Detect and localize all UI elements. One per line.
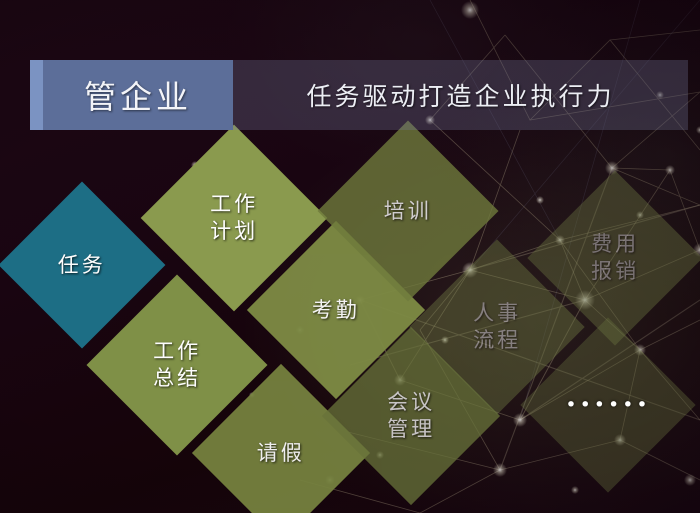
diamond-label-leave: 请假 — [257, 440, 305, 467]
diamond-label-meeting: 会议 管理 — [387, 389, 435, 443]
ellipsis-more-indicator: •••••• — [565, 394, 650, 416]
diamond-label-work-plan: 工作 计划 — [210, 191, 258, 245]
diamond-label-training: 培训 — [384, 198, 432, 225]
diamond-label-expense: 费用 报销 — [591, 231, 639, 285]
diamond-label-hr-process: 人事 流程 — [473, 300, 521, 354]
diamond-label-work-summary: 工作 总结 — [153, 338, 201, 392]
page-title: 管企业 — [43, 60, 233, 130]
title-bar-accent-stripe — [30, 60, 43, 130]
page-subtitle: 任务驱动打造企业执行力 — [233, 60, 688, 130]
diamond-label-task: 任务 — [58, 252, 106, 279]
title-bar: 管企业 任务驱动打造企业执行力 — [30, 60, 688, 130]
slide-canvas: 任务工作 计划工作 总结考勤请假培训会议 管理人事 流程费用 报销•••••• … — [0, 0, 700, 513]
diamond-label-attendance: 考勤 — [312, 297, 360, 324]
